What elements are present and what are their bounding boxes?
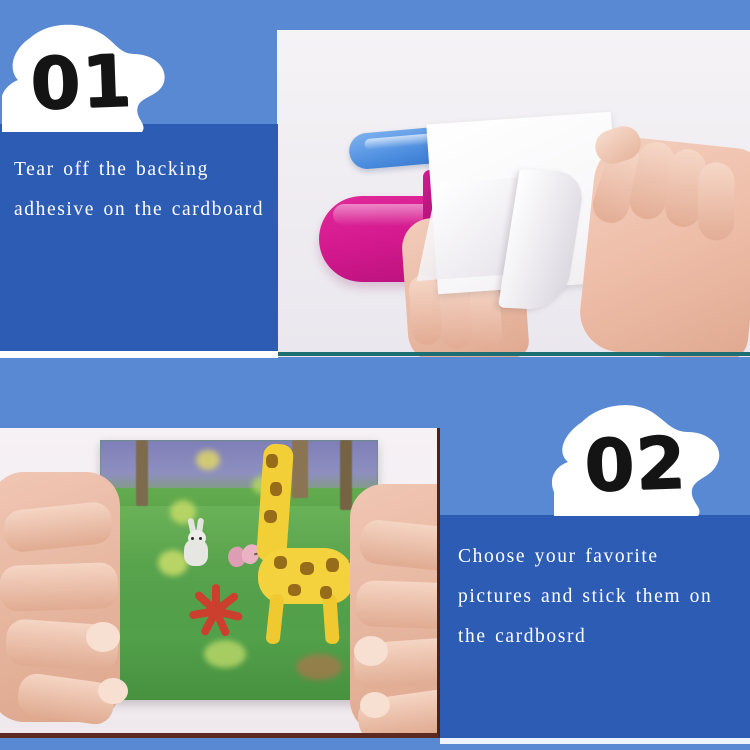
step-1-text-panel: Tear off the backing adhesive on the car…	[0, 124, 278, 351]
step-1-photo	[277, 30, 750, 357]
artwork-rabbit-sticker	[182, 518, 210, 566]
step-2-number-badge: 02	[548, 404, 743, 520]
instruction-page: Tear off the backing adhesive on the car…	[0, 0, 750, 750]
step-2-caption: Choose your favorite pictures and stick …	[440, 515, 750, 657]
step-1-number-badge: 01	[2, 24, 192, 136]
artwork-paint-blotch	[196, 450, 220, 470]
step-1-caption: Tear off the backing adhesive on the car…	[0, 124, 278, 230]
step-2-number: 02	[583, 426, 688, 502]
step-2-photo	[0, 428, 440, 738]
divider-white-bottom	[440, 738, 750, 744]
step-2-text-panel: Choose your favorite pictures and stick …	[440, 515, 750, 738]
step-1-number: 01	[29, 44, 134, 120]
holding-hand-left	[0, 472, 140, 722]
artwork-red-flower	[182, 578, 252, 648]
divider-white-top	[0, 351, 278, 358]
holding-hand-right	[330, 484, 440, 734]
divider-teal	[277, 352, 750, 356]
peeling-hand-right	[576, 134, 750, 357]
